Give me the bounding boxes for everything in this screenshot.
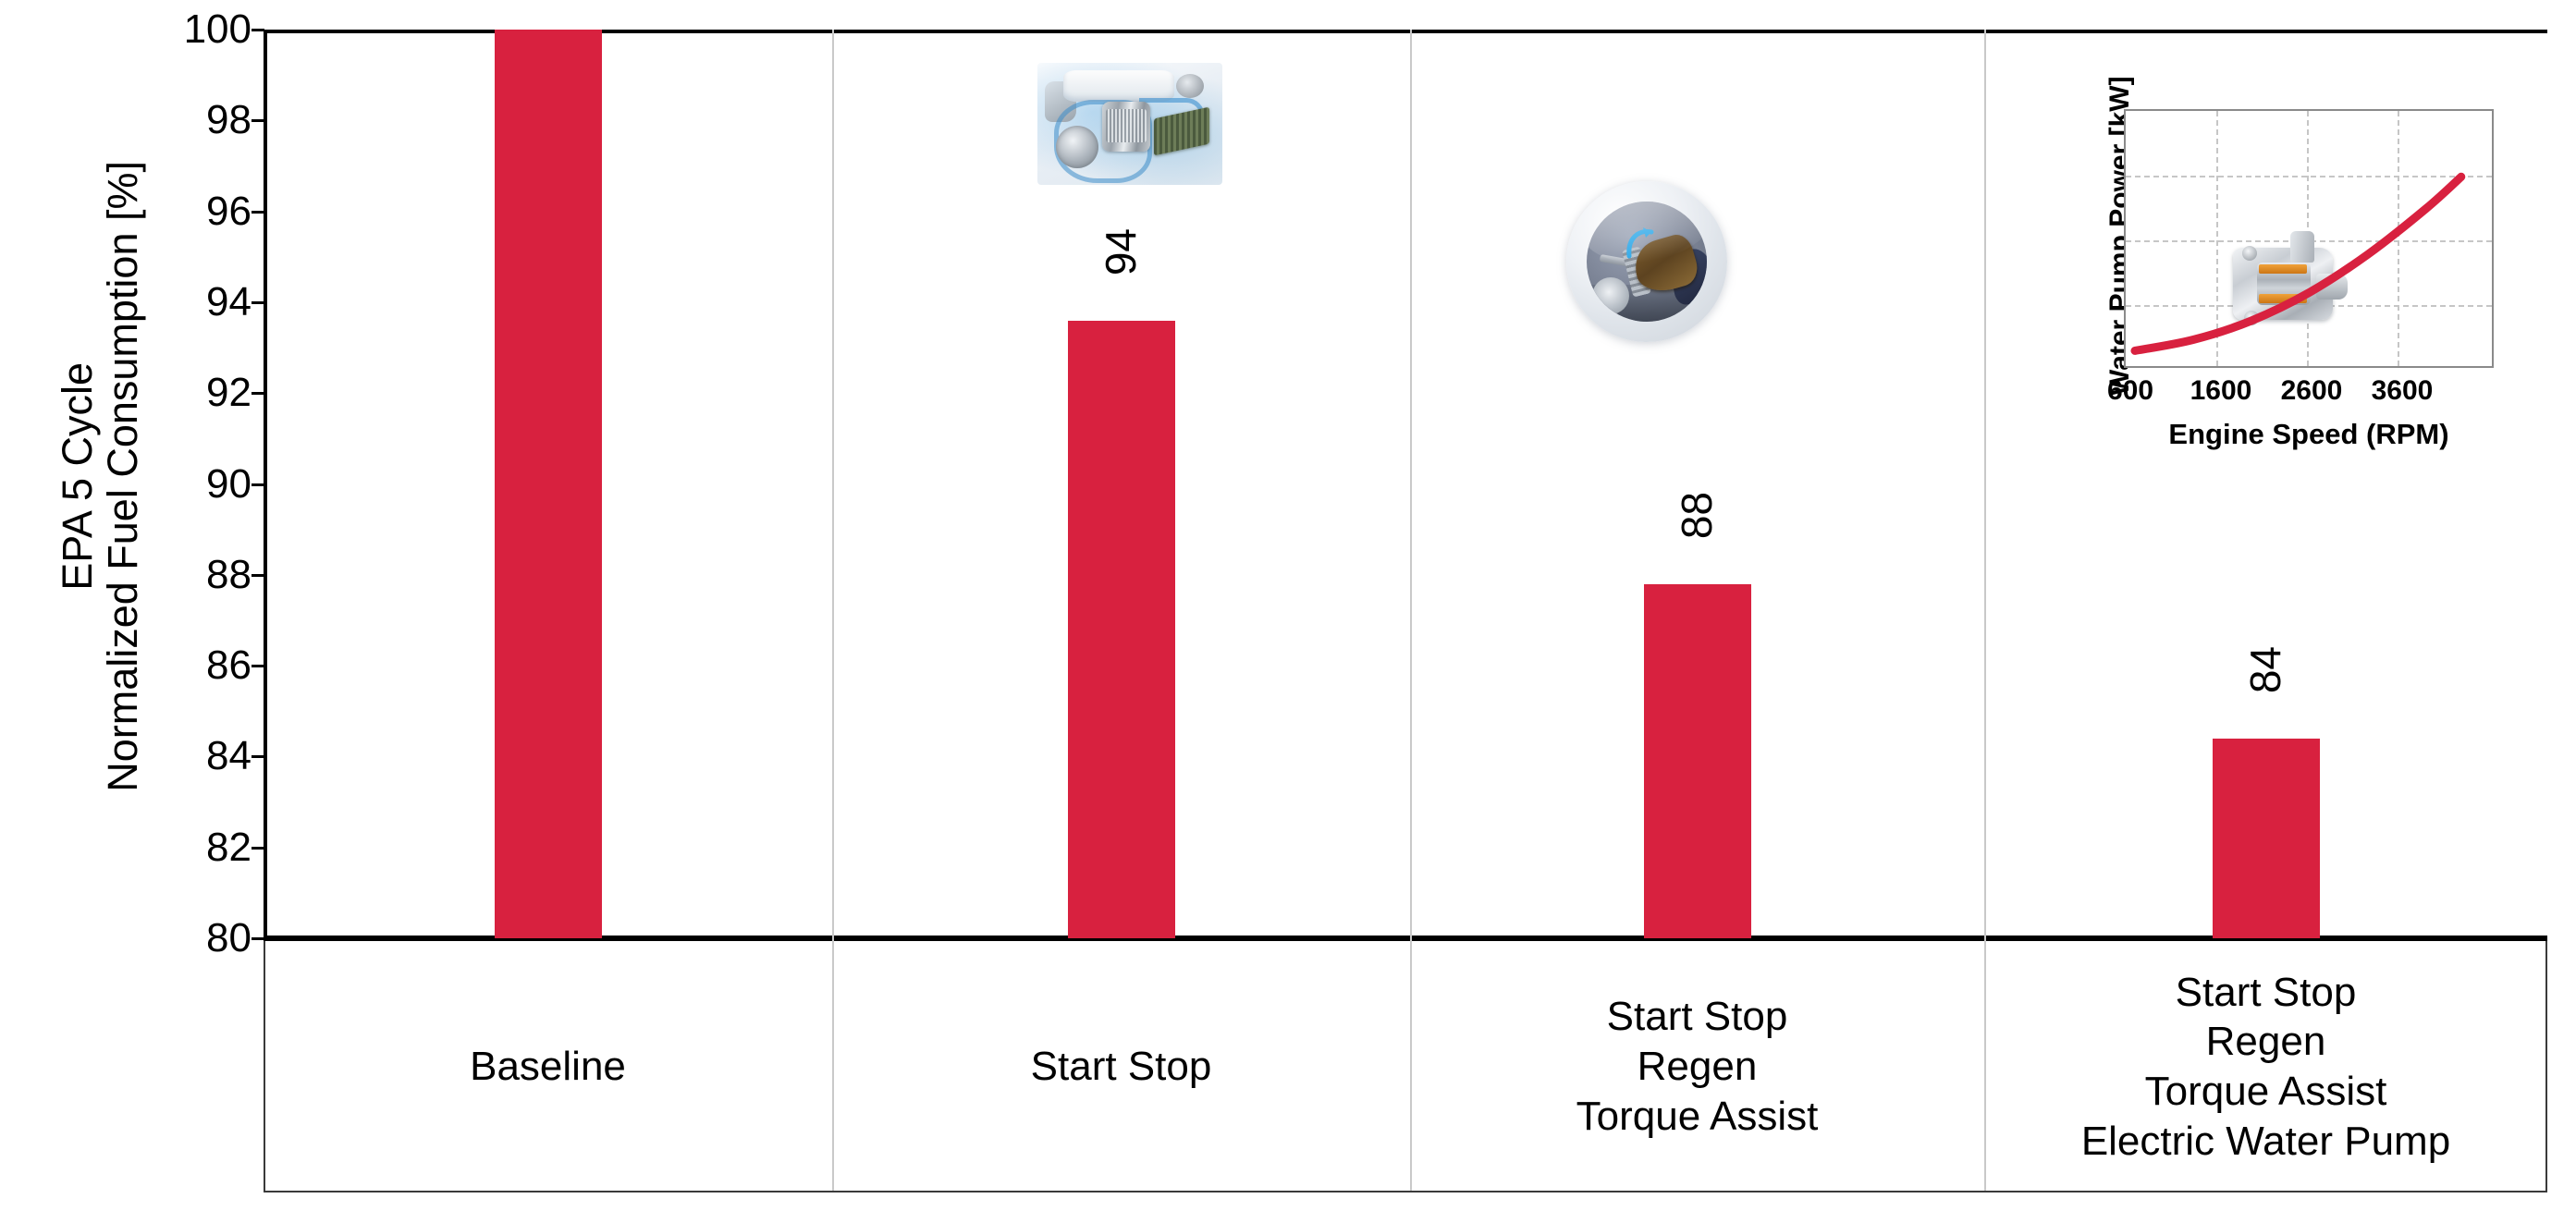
y-tick-label: 86 bbox=[150, 645, 251, 686]
inset-x-tick-label: 2600 bbox=[2270, 375, 2353, 407]
inset-x-axis-title: Engine Speed (RPM) bbox=[2124, 418, 2494, 451]
y-tick-mark bbox=[251, 211, 264, 214]
inset-power-curve bbox=[2126, 111, 2494, 368]
engine-alternator-icon bbox=[1037, 63, 1222, 185]
brake-pedal-regen-icon bbox=[1566, 181, 1727, 342]
bar[interactable] bbox=[1068, 321, 1175, 938]
y-tick-mark bbox=[251, 665, 264, 667]
engine-manifold-part bbox=[1063, 70, 1174, 102]
category-label-box bbox=[264, 941, 2547, 1192]
y-tick-label: 80 bbox=[150, 918, 251, 959]
y-tick-mark bbox=[251, 483, 264, 486]
bar[interactable] bbox=[495, 30, 602, 938]
y-tick-label: 94 bbox=[150, 282, 251, 323]
y-tick-label: 90 bbox=[150, 464, 251, 505]
y-tick-mark bbox=[251, 119, 264, 122]
bar[interactable] bbox=[2213, 739, 2320, 938]
y-tick-label: 98 bbox=[150, 100, 251, 141]
y-tick-mark bbox=[251, 574, 264, 577]
inset-x-tick-label: 1600 bbox=[2179, 375, 2263, 407]
pedal-disc-part bbox=[1592, 277, 1629, 314]
inset-chart: Water Pump Power [kW] 600160026 bbox=[2034, 92, 2533, 573]
y-tick-label: 92 bbox=[150, 373, 251, 413]
y-axis-title-line-1: EPA 5 Cycle bbox=[56, 362, 98, 591]
bar-value-label: 88 bbox=[1675, 492, 1718, 539]
y-tick-mark bbox=[251, 847, 264, 850]
engine-pulley-part bbox=[1056, 126, 1098, 168]
bar[interactable] bbox=[1644, 584, 1751, 938]
y-tick-label: 96 bbox=[150, 191, 251, 232]
inset-x-tick-label: 3600 bbox=[2361, 375, 2444, 407]
y-axis-ticks: 10098969492908886848280 bbox=[148, 0, 251, 1223]
y-tick-label: 100 bbox=[150, 9, 251, 50]
bar-value-label: 84 bbox=[2244, 646, 2287, 693]
y-tick-mark bbox=[251, 301, 264, 304]
y-tick-mark bbox=[251, 755, 264, 758]
inset-x-tick-label: 600 bbox=[2089, 375, 2172, 407]
engine-cap-part bbox=[1176, 74, 1204, 98]
y-tick-mark bbox=[251, 937, 264, 940]
y-tick-label: 88 bbox=[150, 555, 251, 595]
y-tick-mark bbox=[251, 392, 264, 395]
y-tick-label: 84 bbox=[150, 736, 251, 777]
y-tick-mark bbox=[251, 29, 264, 31]
inset-plot-area bbox=[2124, 109, 2494, 368]
chart-canvas: EPA 5 Cycle Normalized Fuel Consumption … bbox=[0, 0, 2576, 1223]
y-tick-label: 82 bbox=[150, 827, 251, 868]
y-axis-title-line-2: Normalized Fuel Consumption [%] bbox=[102, 161, 143, 792]
engine-alternator-fins-part bbox=[1106, 109, 1147, 142]
bar-value-label: 94 bbox=[1099, 228, 1142, 275]
orb-inner-sphere bbox=[1587, 202, 1707, 322]
